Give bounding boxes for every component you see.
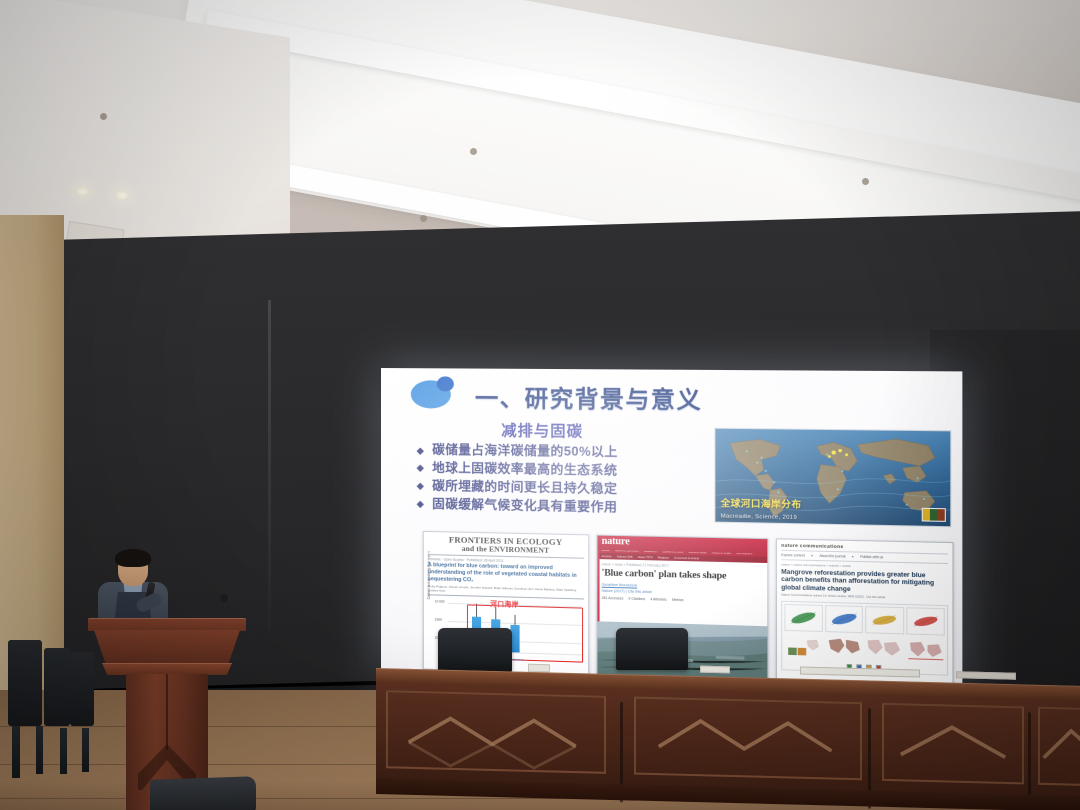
nature-logo: nature — [602, 537, 763, 551]
chair — [438, 628, 512, 672]
conference-table — [376, 668, 1080, 810]
map-caption: 全球河口海岸分布 — [721, 496, 802, 511]
mini-map — [865, 635, 904, 663]
scatter-panel-blue — [825, 605, 863, 633]
chair-leg — [12, 726, 20, 778]
bullet-marker-icon: ◆ — [417, 444, 424, 457]
table-panel — [386, 690, 606, 774]
table-panel — [634, 697, 862, 781]
nav-item[interactable]: Regions — [658, 555, 669, 559]
figure-scatter-panels — [784, 604, 944, 636]
metric-altmetric: 4 Altmetric — [650, 597, 667, 602]
paper-headline: Mangrove reforestation provides greater … — [781, 568, 948, 596]
world-map-svg — [715, 429, 950, 526]
microphone-head-icon — [220, 594, 228, 602]
paper-headline: A blueprint for blue carbon: toward an i… — [428, 562, 584, 587]
paper-figure — [781, 601, 948, 676]
scatter-panel-yellow — [865, 606, 904, 634]
list-item: ◆ 固碳缓解气候变化具有重要作用 — [417, 495, 696, 518]
stage-monitor-speaker — [150, 776, 256, 810]
bullet-marker-icon: ◆ — [417, 462, 424, 475]
chair-leg — [60, 728, 67, 774]
page-title: 一、研究背景与意义 — [475, 379, 702, 416]
chevron-down-icon: ▾ — [852, 554, 854, 558]
metric-link[interactable]: Metrics — [672, 598, 683, 602]
podium-seam — [166, 674, 168, 750]
scatter-svg — [785, 605, 821, 631]
chairs-left-group — [8, 640, 96, 810]
scatter-svg — [826, 606, 862, 632]
table-chevron-detail — [1040, 709, 1080, 784]
metric-citations: 9 Citations — [628, 596, 645, 601]
highlight-annotation-label: 河口海岸 — [490, 598, 519, 609]
chair — [8, 640, 42, 726]
slide-title-row: 一、研究背景与意义 — [393, 374, 951, 422]
chair — [616, 628, 688, 670]
mini-map-svg — [784, 633, 822, 661]
chart-ytick: 1000 — [435, 617, 442, 621]
bullet-marker-icon: ◆ — [417, 480, 424, 493]
nav-item[interactable]: Volume 526 — [617, 554, 633, 558]
smoke-detector-icon — [862, 178, 869, 185]
nav-item[interactable]: Explore content — [781, 553, 805, 558]
world-map-image: 全球河口海岸分布 Macreadie, Science, 2019 — [714, 428, 951, 528]
nav-item[interactable]: Comment & Article — [674, 556, 699, 561]
scatter-panel-red — [906, 607, 945, 635]
mini-map — [906, 637, 945, 666]
paper-metrics: 281 Accesses 9 Citations 4 Altmetric Met… — [602, 596, 763, 604]
scatter-svg — [907, 608, 944, 634]
smoke-detector-icon — [420, 215, 427, 222]
table-chevron-detail — [884, 705, 1022, 782]
podium-face — [94, 630, 240, 664]
nav-item[interactable]: Publish with us — [860, 555, 883, 560]
presentation-photo-scene: 一、研究背景与意义 减排与固碳 ◆ 碳储量占海洋碳储量的50%以上 ◆ 地球上固… — [0, 0, 1080, 810]
podium-top — [88, 618, 246, 631]
table-nameplate — [700, 666, 730, 674]
table-chevron-detail — [388, 692, 604, 771]
nav-item[interactable]: Issue 7574 — [638, 555, 653, 559]
mini-map — [825, 634, 863, 662]
chair — [70, 652, 94, 726]
list-item-label: 固碳缓解气候变化具有重要作用 — [432, 496, 617, 518]
chart-ytick: 10 000 — [435, 599, 445, 603]
chart-ylabel: Carbon burial rate (g C m⁻² y⁻¹) — [427, 543, 431, 599]
mini-map-svg — [825, 634, 863, 662]
downlight-icon — [76, 187, 89, 196]
table-document — [956, 671, 1016, 679]
smoke-detector-icon — [470, 148, 477, 155]
table-chevron-detail — [636, 699, 860, 779]
smoke-detector-icon — [100, 113, 107, 120]
chair-leg — [36, 726, 43, 774]
scatter-svg — [866, 607, 902, 633]
wall-seam — [268, 300, 271, 630]
paper-headline: 'Blue carbon' plan takes shape — [602, 568, 763, 583]
map-legend-icon — [922, 508, 946, 522]
downlight-icon — [116, 191, 129, 200]
scatter-panel-green — [784, 604, 822, 632]
chair-leg — [82, 728, 89, 772]
figure-world-maps — [784, 633, 944, 665]
mini-map-svg — [865, 635, 904, 663]
bullet-marker-icon: ◆ — [417, 498, 424, 511]
metric-accesses: 281 Accesses — [602, 596, 624, 601]
chevron-down-icon: ▾ — [811, 553, 813, 557]
mini-map-svg — [906, 637, 945, 666]
nav-item[interactable]: Archive — [602, 554, 612, 558]
nav-item[interactable]: About the journal — [819, 554, 845, 559]
table-panel — [1038, 707, 1080, 786]
paper-nature-communications[interactable]: nature communications Explore content ▾ … — [776, 538, 954, 687]
table-panel — [882, 703, 1024, 785]
mini-map — [784, 633, 822, 661]
circle-decoration-small-icon — [437, 376, 454, 391]
presenter-hair — [115, 549, 151, 567]
chair — [44, 648, 70, 726]
